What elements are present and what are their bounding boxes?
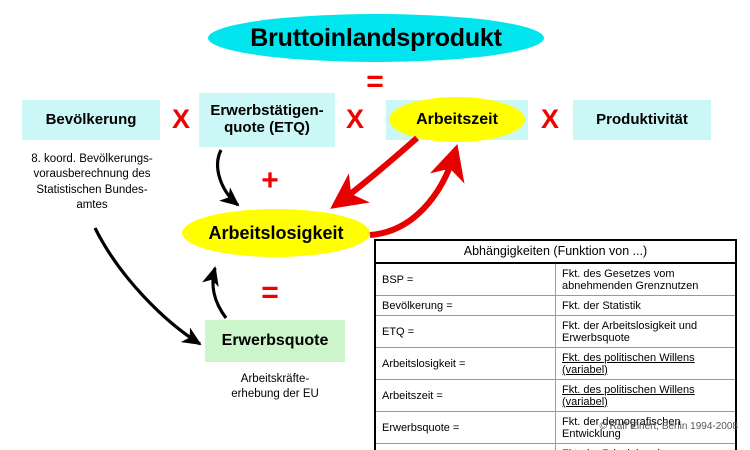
node-label-produktivitaet: Produktivität bbox=[596, 112, 688, 129]
node-arbeitszeit: Arbeitszeit bbox=[389, 97, 525, 142]
note-erwerbsquote-source: Arbeitskräfte- erhebung der EU bbox=[205, 372, 345, 403]
table-cell-key: Bevölkerung = bbox=[376, 296, 556, 316]
operator-equals-mid: = bbox=[250, 278, 290, 308]
note-line-2: vorausberechnung des bbox=[10, 167, 174, 182]
operator-plus: + bbox=[250, 166, 290, 196]
operator-equals-top: = bbox=[355, 67, 395, 97]
node-label-bevoelkerung: Bevölkerung bbox=[46, 112, 137, 129]
node-erwerbsquote: Erwerbsquote bbox=[205, 320, 345, 362]
node-label-erwerbstaetigenquote: Erwerbstätigen-quote (ETQ) bbox=[210, 103, 323, 137]
table-row: Bevölkerung =Fkt. der Statistik bbox=[376, 296, 735, 316]
arrow-erwerbsquote-to-arbeitslosigkeit bbox=[213, 268, 226, 318]
table-cell-value: Fkt. des politischen Willens (variabel) bbox=[556, 380, 736, 412]
table-cell-key: Produktivität = bbox=[376, 444, 556, 450]
table-cell-value: Fkt. der Statistik bbox=[556, 296, 736, 316]
arrow-bevoelkerung-to-erwerbsquote bbox=[95, 228, 200, 344]
table-cell-value-text: Fkt. der Arbeitslosigkeit und Erwerbsquo… bbox=[562, 320, 697, 344]
table-cell-key: Arbeitslosigkeit = bbox=[376, 348, 556, 380]
table-cell-value-text: Fkt. des Gesetzes vom abnehmenden Grenzn… bbox=[562, 268, 698, 292]
operator-times-1: X bbox=[166, 106, 196, 133]
table-row: Produktivität =Fkt. der Prinzipien der E… bbox=[376, 444, 735, 450]
copyright-notice: © Ralf Einert, Berlin 1994-2008 bbox=[0, 421, 738, 432]
node-label-arbeitszeit: Arbeitszeit bbox=[416, 111, 498, 129]
table-row: Arbeitszeit =Fkt. des politischen Willen… bbox=[376, 380, 735, 412]
table-cell-value: Fkt. der Prinzipien der Evolutionslehre bbox=[556, 444, 736, 450]
arrow-etq-to-arbeitslosigkeit bbox=[218, 150, 238, 205]
note-line-1: 8. koord. Bevölkerungs- bbox=[10, 152, 174, 167]
note-line-4: amtes bbox=[10, 198, 174, 213]
operator-times-2: X bbox=[340, 106, 370, 133]
table-cell-key: BSP = bbox=[376, 263, 556, 296]
node-label-arbeitslosigkeit: Arbeitslosigkeit bbox=[208, 223, 343, 244]
table-cell-value: Fkt. des politischen Willens (variabel) bbox=[556, 348, 736, 380]
node-bruttoinlandsprodukt: Bruttoinlandsprodukt bbox=[208, 14, 544, 62]
node-erwerbstaetigenquote: Erwerbstätigen-quote (ETQ) bbox=[199, 93, 335, 147]
table-row: Arbeitslosigkeit =Fkt. des politischen W… bbox=[376, 348, 735, 380]
note-line-1: Arbeitskräfte- bbox=[205, 372, 345, 387]
node-label-erwerbsquote: Erwerbsquote bbox=[222, 332, 329, 350]
node-produktivitaet: Produktivität bbox=[573, 100, 711, 140]
table-cell-key: Arbeitszeit = bbox=[376, 380, 556, 412]
node-arbeitslosigkeit: Arbeitslosigkeit bbox=[182, 209, 370, 257]
diagram-canvas: Bruttoinlandsprodukt = Bevölkerung X Erw… bbox=[0, 0, 750, 450]
table-cell-value-text: Fkt. des politischen Willens (variabel) bbox=[562, 352, 695, 376]
table-cell-value: Fkt. des Gesetzes vom abnehmenden Grenzn… bbox=[556, 263, 736, 296]
table-cell-value-text: Fkt. des politischen Willens (variabel) bbox=[562, 384, 695, 408]
table-cell-value: Fkt. der Arbeitslosigkeit und Erwerbsquo… bbox=[556, 316, 736, 348]
dependencies-table: Abhängigkeiten (Funktion von ...) BSP =F… bbox=[374, 239, 737, 450]
table-cell-key: ETQ = bbox=[376, 316, 556, 348]
node-label-bruttoinlandsprodukt: Bruttoinlandsprodukt bbox=[250, 24, 502, 53]
table-row: BSP =Fkt. des Gesetzes vom abnehmenden G… bbox=[376, 263, 735, 296]
arrow-arbeitslosigkeit-to-arbeitszeit bbox=[370, 152, 455, 235]
dependencies-table-header: Abhängigkeiten (Funktion von ...) bbox=[376, 241, 735, 263]
node-bevoelkerung: Bevölkerung bbox=[22, 100, 160, 140]
operator-times-3: X bbox=[535, 106, 565, 133]
arrow-arbeitszeit-to-arbeitslosigkeit bbox=[337, 138, 417, 204]
note-bevoelkerung-source: 8. koord. Bevölkerungs- vorausberechnung… bbox=[10, 152, 174, 213]
table-row: ETQ =Fkt. der Arbeitslosigkeit und Erwer… bbox=[376, 316, 735, 348]
note-line-3: Statistischen Bundes- bbox=[10, 183, 174, 198]
note-line-2: erhebung der EU bbox=[205, 387, 345, 402]
table-cell-value-text: Fkt. der Statistik bbox=[562, 300, 641, 312]
